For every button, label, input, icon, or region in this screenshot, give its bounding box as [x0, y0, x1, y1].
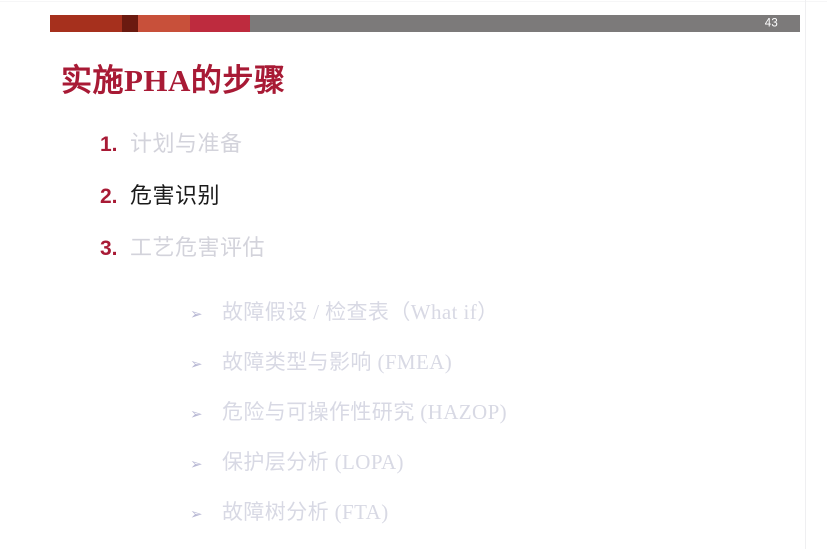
- steps-list: 1. 计划与准备 2. 危害识别 3. 工艺危害评估: [100, 133, 740, 289]
- method-label-lopa: 保护层分析 (LOPA): [222, 452, 404, 473]
- step-marker-1: 1.: [100, 134, 130, 155]
- method-item-fta[interactable]: ➢ 故障树分析 (FTA): [190, 502, 790, 552]
- bar-segment-dark-maroon: [122, 15, 138, 32]
- arrow-bullet-icon: ➢: [190, 457, 222, 472]
- methods-list: ➢ 故障假设 / 检查表（What if） ➢ 故障类型与影响 (FMEA) ➢…: [190, 302, 790, 552]
- slide-frame-top-border: [0, 1, 827, 2]
- bar-segment-crimson: [190, 15, 250, 32]
- bar-segment-brick-red: [50, 15, 122, 32]
- slide-frame-right-border: [805, 0, 806, 549]
- method-label-fmea: 故障类型与影响 (FMEA): [222, 352, 452, 373]
- step-marker-2: 2.: [100, 186, 130, 207]
- method-label-what-if: 故障假设 / 检查表（What if）: [222, 302, 499, 323]
- arrow-bullet-icon: ➢: [190, 307, 222, 322]
- arrow-bullet-icon: ➢: [190, 507, 222, 522]
- bar-segment-gray: 43: [250, 15, 800, 32]
- method-label-fta: 故障树分析 (FTA): [222, 502, 389, 523]
- header-decoration-bar: 43: [50, 15, 800, 32]
- method-item-what-if[interactable]: ➢ 故障假设 / 检查表（What if）: [190, 302, 790, 352]
- arrow-bullet-icon: ➢: [190, 357, 222, 372]
- presentation-slide: 43 实施PHA的步骤 1. 计划与准备 2. 危害识别 3. 工艺危害评估 ➢…: [0, 0, 827, 549]
- method-label-hazop: 危险与可操作性研究 (HAZOP): [222, 402, 507, 423]
- slide-title: 实施PHA的步骤: [61, 62, 285, 99]
- page-number: 43: [765, 18, 778, 30]
- arrow-bullet-icon: ➢: [190, 407, 222, 422]
- method-item-lopa[interactable]: ➢ 保护层分析 (LOPA): [190, 452, 790, 502]
- step-item-1[interactable]: 1. 计划与准备: [100, 133, 740, 185]
- step-label-1: 计划与准备: [130, 133, 243, 155]
- step-item-2[interactable]: 2. 危害识别: [100, 185, 740, 237]
- bar-segment-orange-red: [138, 15, 190, 32]
- method-item-hazop[interactable]: ➢ 危险与可操作性研究 (HAZOP): [190, 402, 790, 452]
- step-label-2: 危害识别: [130, 185, 220, 207]
- method-item-fmea[interactable]: ➢ 故障类型与影响 (FMEA): [190, 352, 790, 402]
- step-marker-3: 3.: [100, 238, 130, 259]
- step-label-3: 工艺危害评估: [130, 237, 265, 259]
- step-item-3[interactable]: 3. 工艺危害评估: [100, 237, 740, 289]
